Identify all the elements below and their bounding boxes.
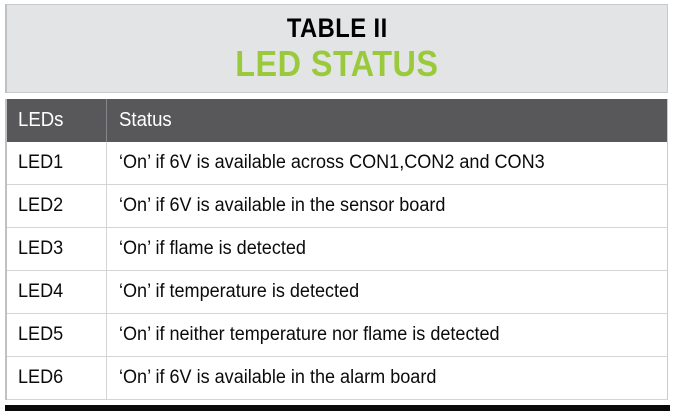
led-name: LED1 xyxy=(18,152,63,174)
led-status-grid: LEDs Status LED1 ‘On’ if 6V is available… xyxy=(5,99,668,400)
table-row: LED1 ‘On’ if 6V is available across CON1… xyxy=(7,142,667,185)
cell-status: ‘On’ if 6V is available across CON1,CON2… xyxy=(106,142,667,184)
table-number-title: TABLE II xyxy=(287,15,388,42)
cell-led: LED2 xyxy=(7,185,106,227)
table-row: LED2 ‘On’ if 6V is available in the sens… xyxy=(7,185,667,228)
table-bottom-rule xyxy=(5,405,670,411)
table-row: LED6 ‘On’ if 6V is available in the alar… xyxy=(7,357,667,400)
table-title-block: TABLE II LED STATUS xyxy=(5,4,668,93)
cell-led: LED4 xyxy=(7,271,106,313)
table-row: LED3 ‘On’ if flame is detected xyxy=(7,228,667,271)
led-status-description: ‘On’ if 6V is available in the alarm boa… xyxy=(119,367,436,389)
table-subject-title: LED STATUS xyxy=(235,45,438,83)
column-header-leds: LEDs xyxy=(7,99,106,142)
led-status-description: ‘On’ if 6V is available in the sensor bo… xyxy=(119,195,445,217)
column-header-leds-label: LEDs xyxy=(18,109,63,132)
led-name: LED2 xyxy=(18,195,63,217)
led-name: LED6 xyxy=(18,367,63,389)
led-status-description: ‘On’ if temperature is detected xyxy=(119,281,359,303)
cell-status: ‘On’ if flame is detected xyxy=(106,228,667,270)
led-name: LED4 xyxy=(18,281,63,303)
cell-led: LED1 xyxy=(7,142,106,184)
led-name: LED5 xyxy=(18,324,63,346)
table-row: LED5 ‘On’ if neither temperature nor fla… xyxy=(7,314,667,357)
cell-status: ‘On’ if neither temperature nor flame is… xyxy=(106,314,667,356)
cell-led: LED5 xyxy=(7,314,106,356)
cell-led: LED6 xyxy=(7,357,106,399)
led-status-description: ‘On’ if neither temperature nor flame is… xyxy=(119,324,500,346)
cell-led: LED3 xyxy=(7,228,106,270)
table-header-row: LEDs Status xyxy=(7,99,667,142)
table-row: LED4 ‘On’ if temperature is detected xyxy=(7,271,667,314)
cell-status: ‘On’ if 6V is available in the alarm boa… xyxy=(106,357,667,399)
cell-status: ‘On’ if 6V is available in the sensor bo… xyxy=(106,185,667,227)
led-status-description: ‘On’ if flame is detected xyxy=(119,238,306,260)
column-header-status: Status xyxy=(106,99,667,142)
led-status-description: ‘On’ if 6V is available across CON1,CON2… xyxy=(119,152,545,174)
cell-status: ‘On’ if temperature is detected xyxy=(106,271,667,313)
led-status-table-figure: TABLE II LED STATUS LEDs Status LED1 ‘On… xyxy=(0,0,675,420)
led-name: LED3 xyxy=(18,238,63,260)
column-header-status-label: Status xyxy=(119,109,172,132)
